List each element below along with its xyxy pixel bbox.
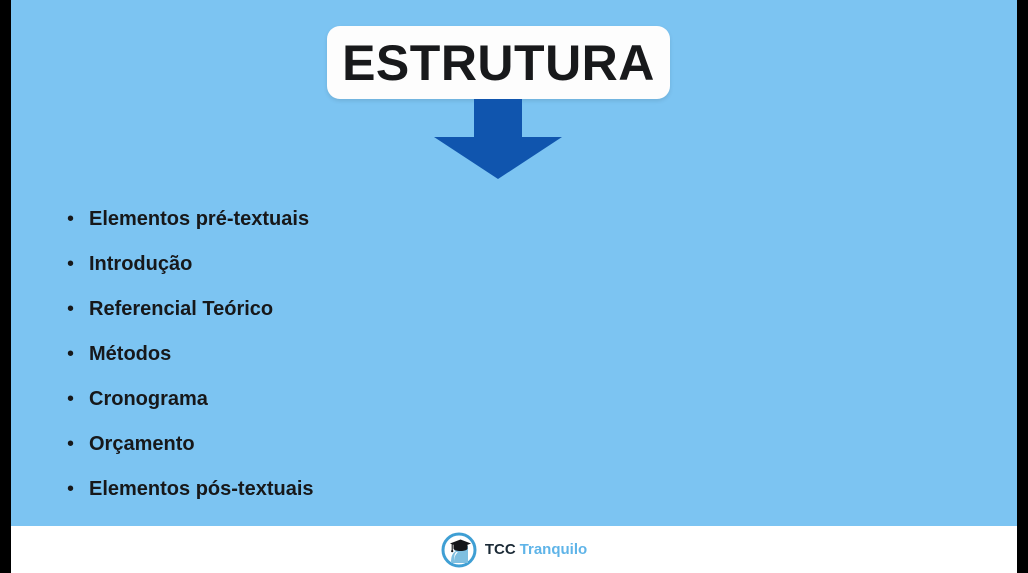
bullet-point-icon: • (67, 254, 89, 274)
list-item-label: Métodos (89, 343, 171, 365)
brand-name-secondary: Tranquilo (520, 541, 588, 558)
list-item-label: Elementos pós-textuais (89, 478, 314, 500)
presentation-slide: ESTRUTURA • Elementos pré-textuais • Int… (0, 0, 1028, 573)
bullet-point-icon: • (67, 389, 89, 409)
list-item-label: Referencial Teórico (89, 298, 273, 320)
list-item-label: Cronograma (89, 388, 208, 410)
bullet-point-icon: • (67, 209, 89, 229)
arrow-down-shape (423, 99, 573, 179)
list-item: • Elementos pós-textuais (67, 466, 767, 511)
list-item-label: Orçamento (89, 433, 195, 455)
list-item-label: Elementos pré-textuais (89, 208, 309, 230)
page-title: ESTRUTURA (342, 38, 655, 88)
list-item-label: Introdução (89, 253, 192, 275)
list-item: • Cronograma (67, 376, 767, 421)
slide-left-edge-bar (0, 0, 11, 573)
list-item: • Métodos (67, 331, 767, 376)
bullet-point-icon: • (67, 434, 89, 454)
slide-canvas: ESTRUTURA • Elementos pré-textuais • Int… (11, 0, 1017, 526)
brand-name: TCCTranquilo (485, 542, 587, 557)
brand-logo: TCCTranquilo (441, 532, 587, 568)
list-item: • Referencial Teórico (67, 286, 767, 331)
footer-bar: TCCTranquilo (11, 526, 1017, 573)
list-item: • Orçamento (67, 421, 767, 466)
structure-bullet-list: • Elementos pré-textuais • Introdução • … (67, 196, 767, 511)
arrow-down-icon (423, 99, 573, 179)
title-card: ESTRUTURA (327, 26, 670, 99)
list-item: • Introdução (67, 241, 767, 286)
list-item: • Elementos pré-textuais (67, 196, 767, 241)
bullet-point-icon: • (67, 479, 89, 499)
slide-right-edge-bar (1017, 0, 1028, 573)
bullet-point-icon: • (67, 299, 89, 319)
bullet-point-icon: • (67, 344, 89, 364)
brand-name-primary: TCC (485, 541, 516, 558)
graduate-cap-avatar-icon (441, 532, 477, 568)
